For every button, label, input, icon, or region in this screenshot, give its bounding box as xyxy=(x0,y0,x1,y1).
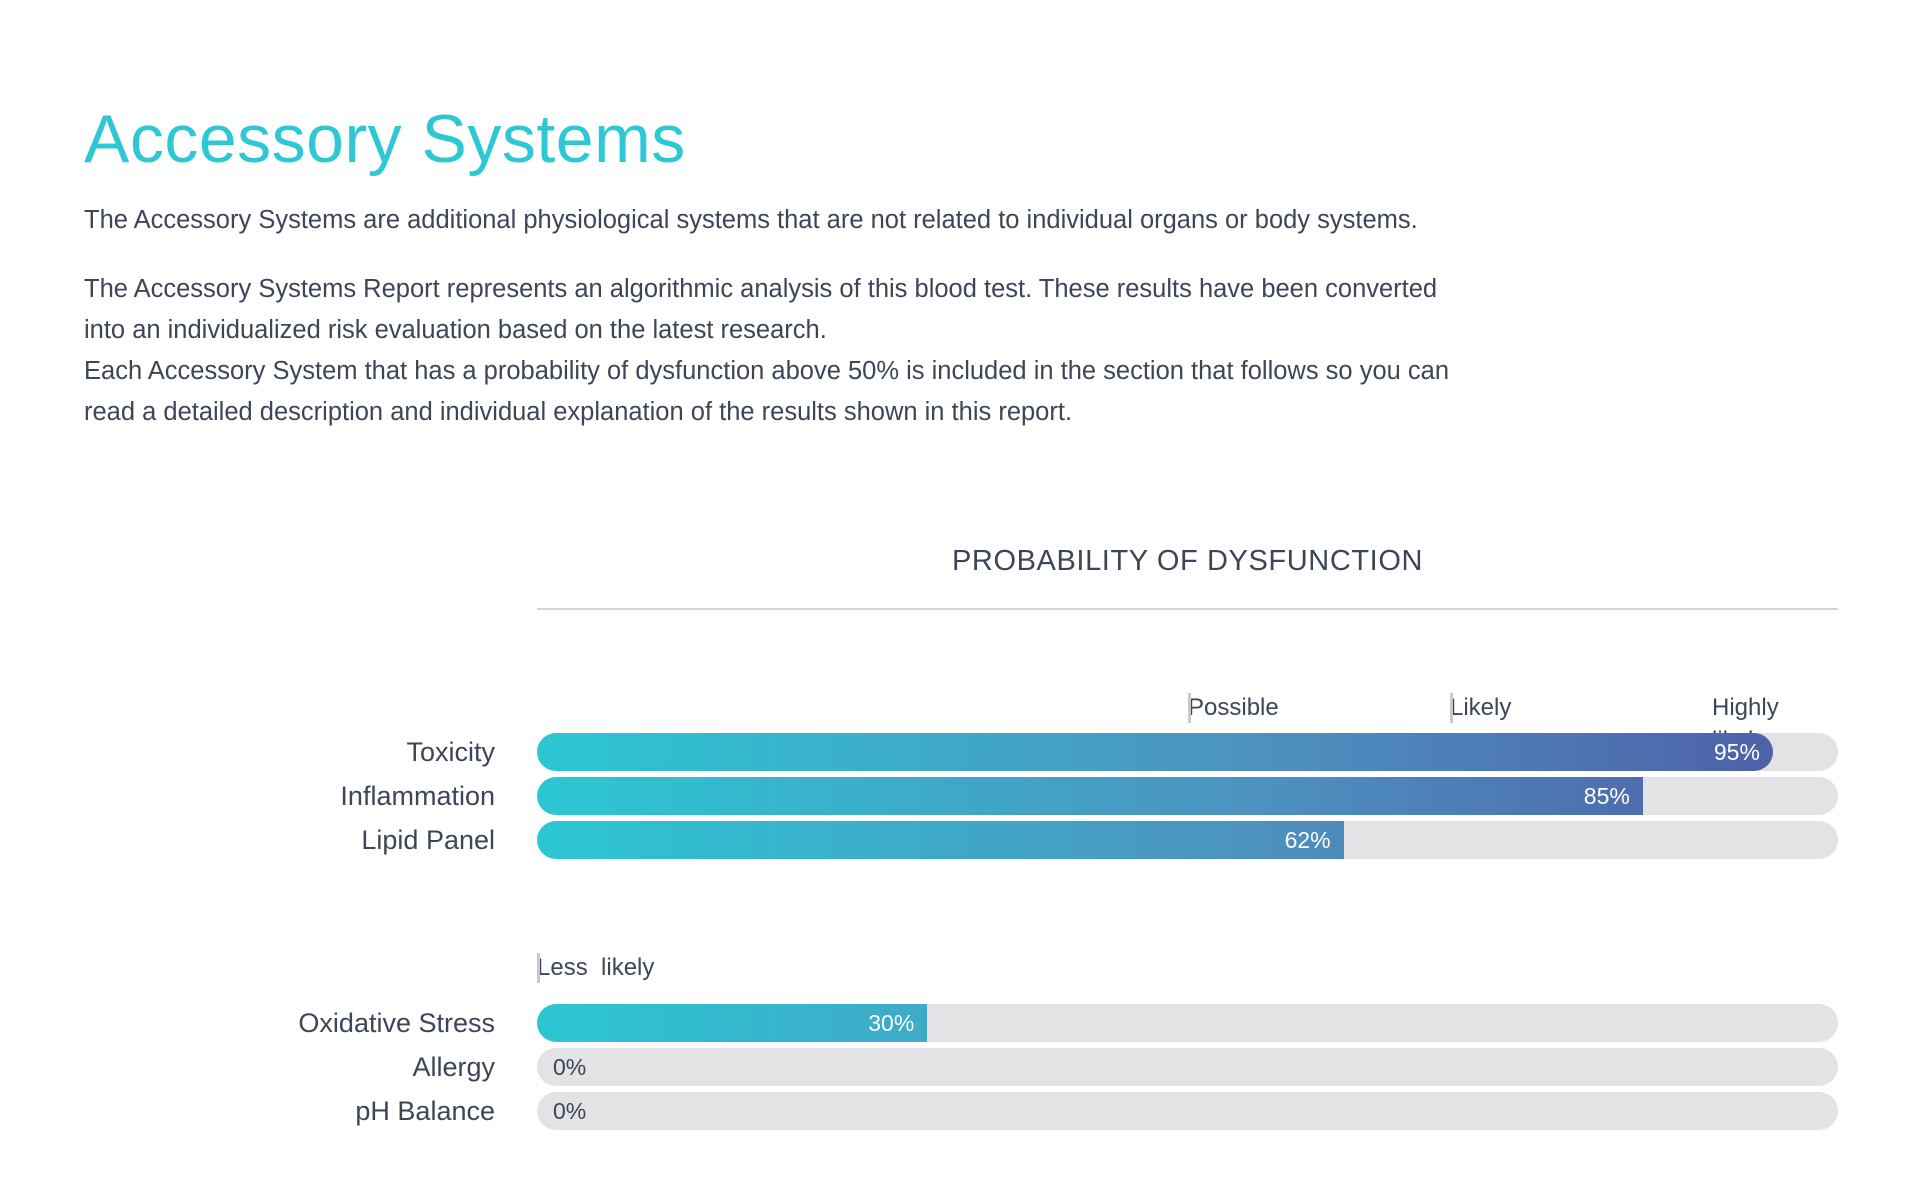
legend-likely-tick-icon xyxy=(1450,693,1453,723)
intro-paragraph-1: The Accessory Systems are additional phy… xyxy=(84,200,1874,241)
bar-track-lipid-panel[interactable]: 62% xyxy=(537,821,1838,859)
legend-possible-tick-icon xyxy=(1188,693,1191,723)
bar-track-allergy[interactable]: 0% xyxy=(537,1048,1838,1086)
bar-fill-inflammation: 85% xyxy=(537,777,1643,815)
bar-label-ph-balance: pH Balance xyxy=(0,1089,495,1133)
table-row: Allergy 0% xyxy=(0,1045,1920,1089)
intro-text-block: The Accessory Systems are additional phy… xyxy=(84,200,1874,433)
table-row: Toxicity 95% xyxy=(0,730,1920,774)
legend-likely-label: Likely xyxy=(1450,691,1533,724)
bar-value-lipid-panel: 62% xyxy=(1285,821,1331,859)
chart-top-divider xyxy=(537,608,1838,610)
bar-fill-toxicity: 95% xyxy=(537,733,1773,771)
chart-title: PROBABILITY OF DYSFUNCTION xyxy=(537,545,1838,578)
bar-track-oxidative-stress[interactable]: 30% xyxy=(537,1004,1838,1042)
intro-paragraph-2-line-1: The Accessory Systems Report represents … xyxy=(84,269,1874,310)
bar-value-oxidative-stress: 30% xyxy=(868,1004,914,1042)
legend-less-likely-tick-icon xyxy=(537,953,540,983)
bar-label-allergy: Allergy xyxy=(0,1045,495,1089)
bar-value-inflammation: 85% xyxy=(1584,777,1630,815)
table-row: Oxidative Stress 30% xyxy=(0,1001,1920,1045)
bar-track-inflammation[interactable]: 85% xyxy=(537,777,1838,815)
intro-paragraph-2-line-2: into an individualized risk evaluation b… xyxy=(84,310,1874,351)
paragraph-spacer xyxy=(84,241,1874,269)
bar-value-ph-balance: 0% xyxy=(553,1092,586,1130)
page-title: Accessory Systems xyxy=(84,104,686,175)
bar-fill-oxidative-stress: 30% xyxy=(537,1004,927,1042)
bar-track-toxicity[interactable]: 95% xyxy=(537,733,1838,771)
bar-label-inflammation: Inflammation xyxy=(0,774,495,818)
bar-label-toxicity: Toxicity xyxy=(0,730,495,774)
table-row: Inflammation 85% xyxy=(0,774,1920,818)
bar-fill-lipid-panel: 62% xyxy=(537,821,1344,859)
intro-paragraph-3-line-1: Each Accessory System that has a probabi… xyxy=(84,351,1874,392)
bar-label-lipid-panel: Lipid Panel xyxy=(0,818,495,862)
bar-label-oxidative-stress: Oxidative Stress xyxy=(0,1001,495,1045)
intro-paragraph-3-line-2: read a detailed description and individu… xyxy=(84,392,1874,433)
bar-value-allergy: 0% xyxy=(553,1048,586,1086)
bar-track-ph-balance[interactable]: 0% xyxy=(537,1092,1838,1130)
table-row: Lipid Panel 62% xyxy=(0,818,1920,862)
table-row: pH Balance 0% xyxy=(0,1089,1920,1133)
bar-value-toxicity: 95% xyxy=(1714,733,1760,771)
legend-possible-label: Possible xyxy=(1188,691,1279,724)
accessory-systems-report-page: Accessory Systems The Accessory Systems … xyxy=(0,0,1920,1200)
legend-less-likely-label: Less likely xyxy=(537,951,654,984)
